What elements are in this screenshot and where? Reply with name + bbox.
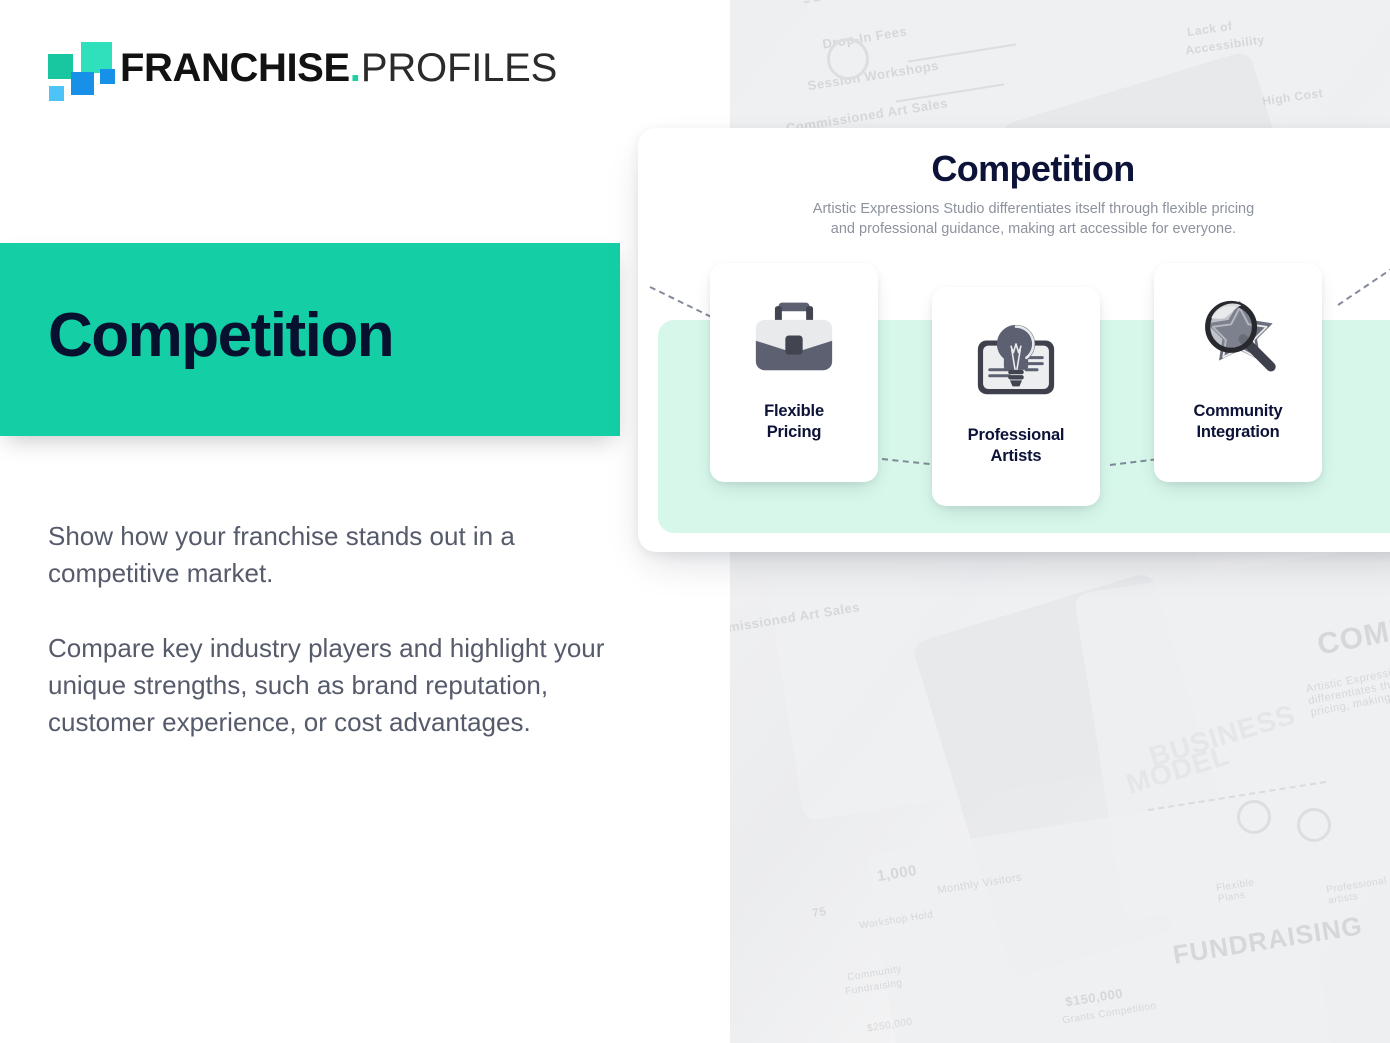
slide-preview-card[interactable]: Competition Artistic Expressions Studio … [638, 128, 1390, 552]
feature-label-line2: Pricing [767, 423, 822, 441]
brand-dot: . [350, 48, 361, 88]
feature-card-community-integration[interactable]: Community Integration [1154, 263, 1322, 482]
feature-label-line1: Community [1194, 402, 1283, 420]
feature-card-flexible-pricing[interactable]: Flexible Pricing [710, 263, 878, 482]
feature-card-professional-artists[interactable]: Professional Artists [932, 287, 1100, 506]
brand-logo[interactable]: FRANCHISE.PROFILES [48, 42, 557, 94]
feature-label: Professional Artists [960, 425, 1073, 468]
page-title: Competition [48, 305, 393, 367]
magnifier-star-icon [1186, 287, 1290, 391]
briefcase-icon [742, 287, 846, 391]
brand-word-profiles: PROFILES [361, 48, 557, 88]
feature-label-line2: Integration [1196, 423, 1279, 441]
feature-label-line1: Professional [968, 426, 1065, 444]
feature-label-line1: Flexible [764, 402, 824, 420]
ghost-circle [1237, 800, 1271, 834]
slide-title: Competition [638, 148, 1390, 190]
feature-label: Flexible Pricing [756, 401, 832, 444]
feature-label-line2: Artists [991, 447, 1042, 465]
feature-label: Community Integration [1186, 401, 1291, 444]
lightbulb-document-icon [964, 311, 1068, 415]
ghost-text: 75 [811, 904, 827, 920]
brand-word-franchise: FRANCHISE [120, 48, 350, 88]
franchise-profiles-squares-logo-icon [48, 42, 110, 94]
dashed-connector-right [1337, 237, 1390, 306]
section-description: Show how your franchise stands out in a … [48, 518, 618, 741]
slide-subtitle: Artistic Expressions Studio differentiat… [806, 200, 1261, 239]
description-paragraph-1: Show how your franchise stands out in a … [48, 518, 618, 592]
description-paragraph-2: Compare key industry players and highlig… [48, 630, 618, 741]
brand-wordmark: FRANCHISE.PROFILES [120, 48, 557, 88]
ghost-circle [1297, 808, 1331, 842]
